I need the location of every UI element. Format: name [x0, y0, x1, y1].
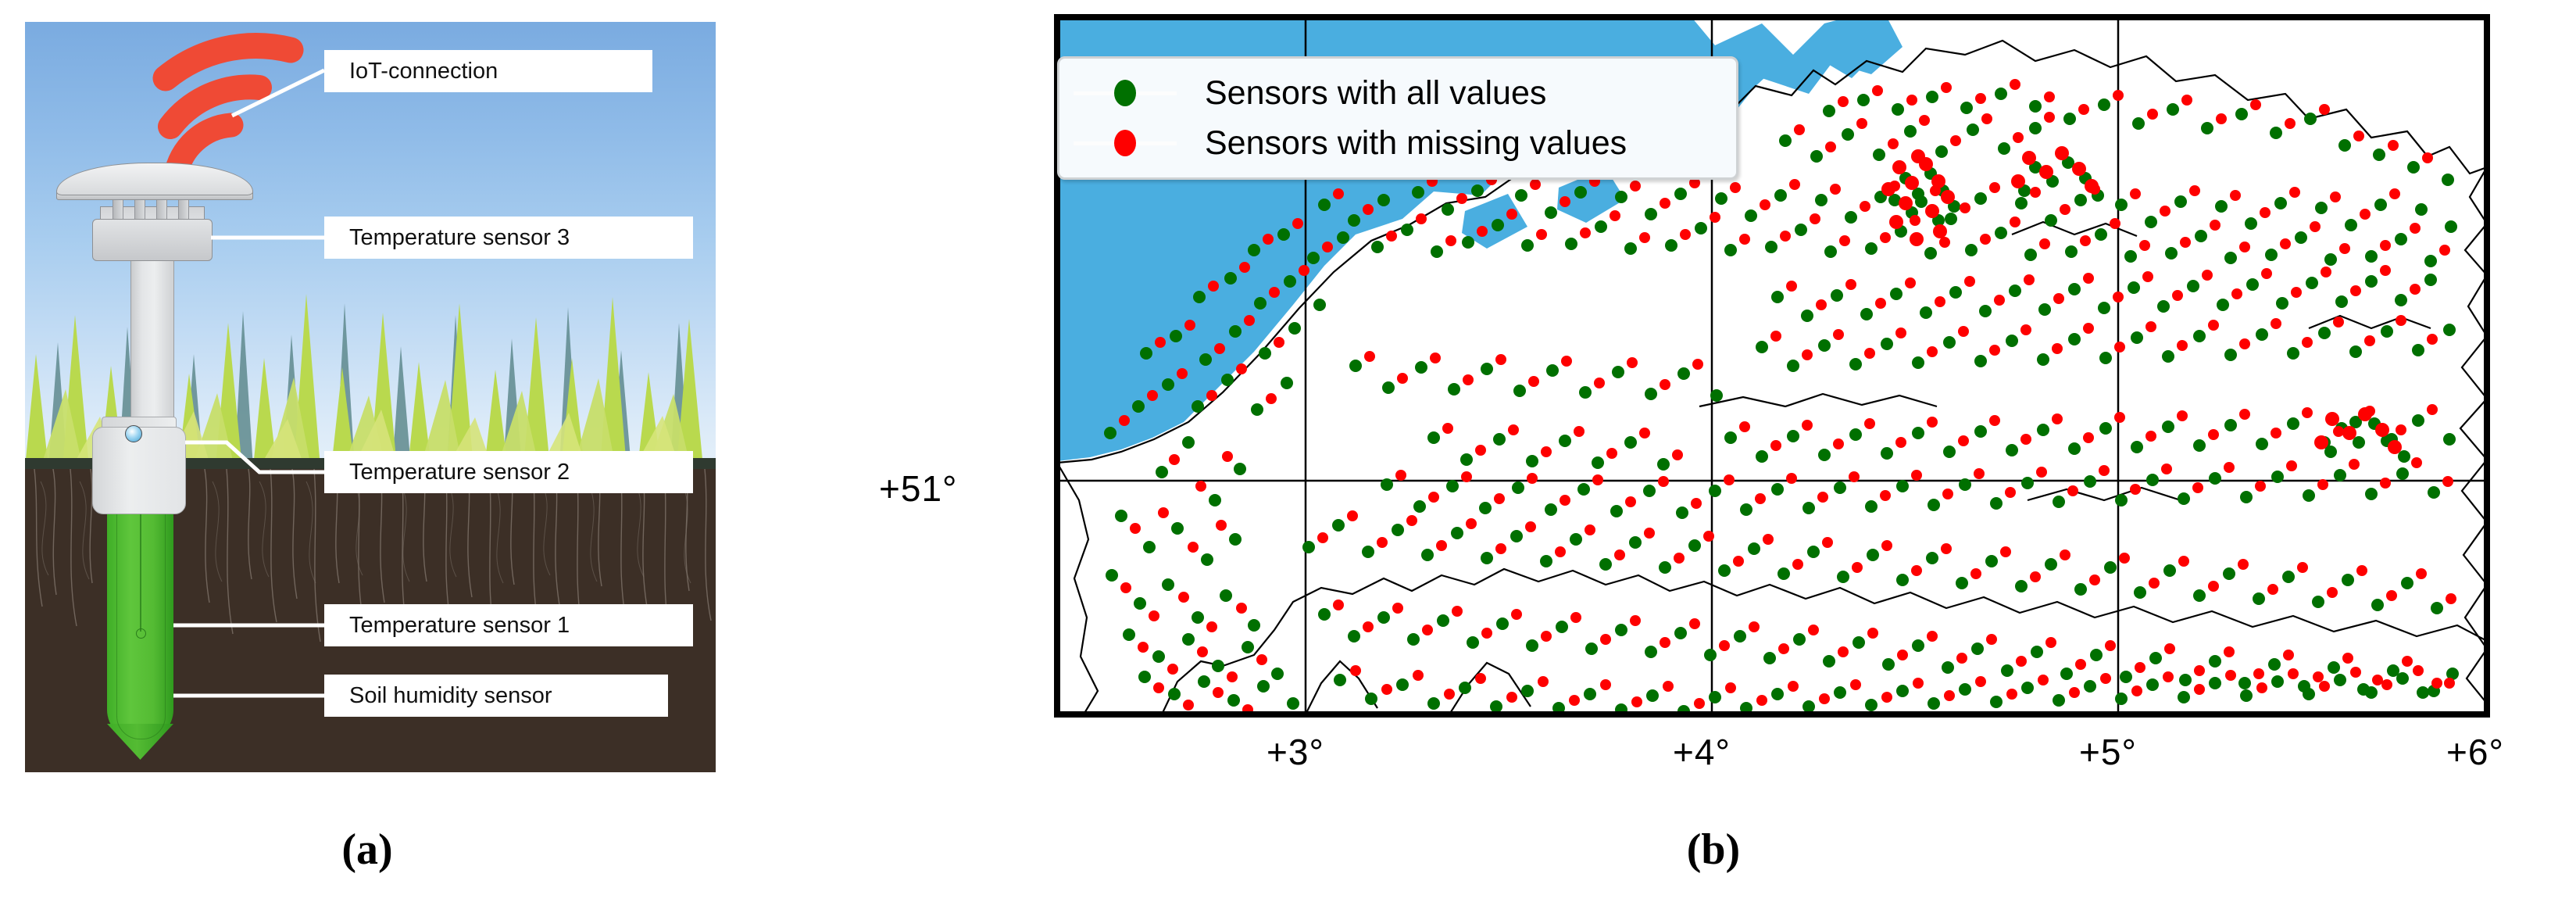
x-axis-tick-label-4: +4° — [1673, 731, 1731, 773]
callout-label-iot-connection: IoT-connection — [324, 50, 652, 92]
legend-item-missing-values: Sensors with missing values — [1074, 118, 1722, 168]
callout-label-temperature-sensor-3: Temperature sensor 3 — [324, 217, 693, 259]
legend-label-all-values: Sensors with all values — [1205, 74, 1546, 113]
panel-a-sensor-illustration: IoT-connection Temperature sensor 3 Temp… — [0, 0, 887, 902]
x-axis-tick-label-5: +5° — [2079, 731, 2137, 773]
panel-a-caption: (a) — [0, 825, 734, 875]
legend-marker-green — [1114, 80, 1136, 106]
x-axis-tick-label-3: +3° — [1267, 731, 1324, 773]
x-axis-tick-label-6: +6° — [2446, 731, 2504, 773]
panel-b-caption: (b) — [1526, 825, 1901, 875]
sensor-diagram: IoT-connection Temperature sensor 3 Temp… — [25, 22, 716, 772]
map-legend: Sensors with all values Sensors with mis… — [1057, 56, 1738, 180]
callout-text: Temperature sensor 1 — [349, 614, 570, 637]
callout-text: IoT-connection — [349, 60, 498, 83]
legend-marker-red — [1114, 130, 1136, 156]
callout-text: Temperature sensor 2 — [349, 461, 570, 484]
callout-text: Temperature sensor 3 — [349, 227, 570, 249]
callout-label-temperature-sensor-2: Temperature sensor 2 — [324, 451, 693, 493]
legend-item-all-values: Sensors with all values — [1074, 68, 1722, 118]
callout-text: Soil humidity sensor — [349, 685, 552, 707]
callout-label-temperature-sensor-1: Temperature sensor 1 — [324, 604, 693, 646]
callout-label-soil-humidity-sensor: Soil humidity sensor — [324, 675, 668, 717]
panel-b-sensor-map: +51° — [887, 0, 2576, 902]
legend-label-missing-values: Sensors with missing values — [1205, 124, 1627, 163]
callout-leader-lines — [25, 22, 716, 772]
